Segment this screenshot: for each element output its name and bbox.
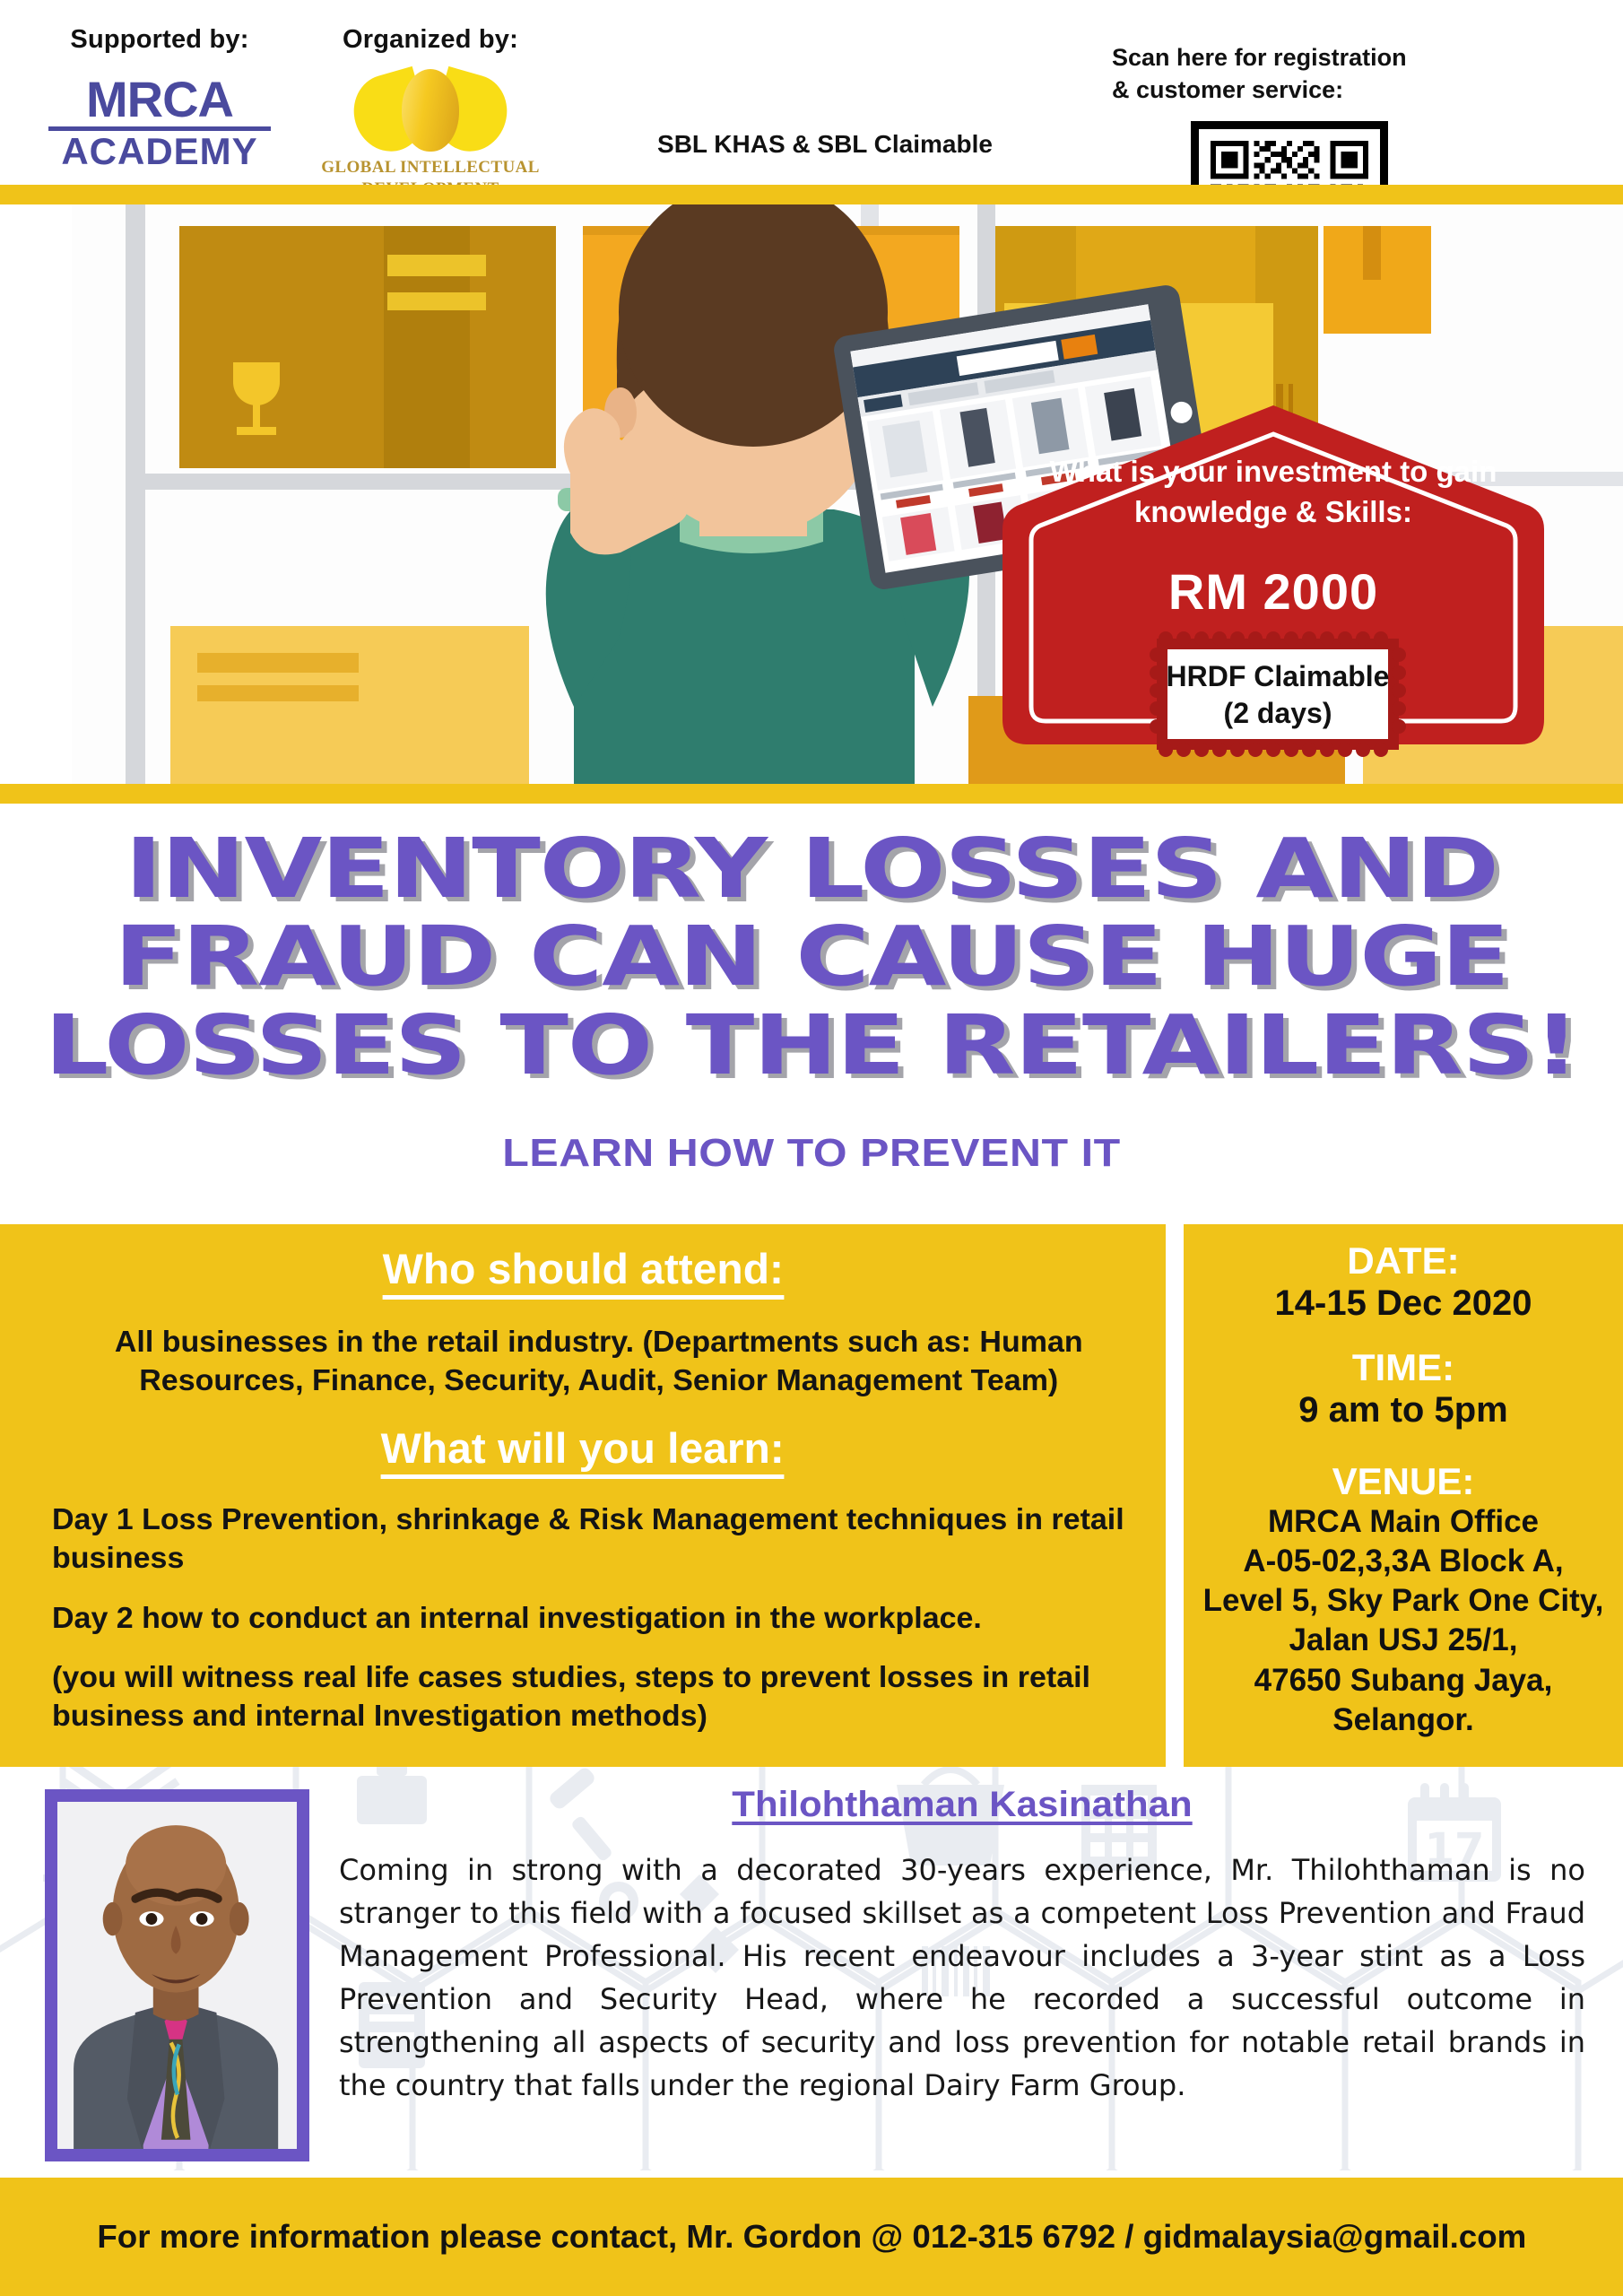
what-will-you-learn-heading-wrap: What will you learn: bbox=[52, 1423, 1114, 1479]
speaker-section: 17 bbox=[0, 1767, 1623, 2170]
venue-label: VENUE: bbox=[1193, 1461, 1614, 1502]
footer-contact-bar: For more information please contact, Mr.… bbox=[0, 2178, 1623, 2296]
panel-course-details: Who should attend: All businesses in the… bbox=[0, 1224, 1166, 1767]
time-value: 9 am to 5pm bbox=[1193, 1388, 1614, 1432]
mrca-academy-logo: MRCA ACADEMY bbox=[43, 74, 276, 170]
learn-note: (you will witness real life cases studie… bbox=[52, 1658, 1146, 1735]
venue-line-6: Selangor. bbox=[1193, 1700, 1614, 1740]
supported-by-block: Supported by: MRCA ACADEMY bbox=[43, 25, 276, 170]
venue-line-1: MRCA Main Office bbox=[1193, 1502, 1614, 1542]
venue-line-3: Level 5, Sky Park One City, bbox=[1193, 1581, 1614, 1621]
learn-day1: Day 1 Loss Prevention, shrinkage & Risk … bbox=[52, 1500, 1146, 1578]
who-should-attend-body: All businesses in the retail industry. (… bbox=[52, 1323, 1146, 1400]
hrdf-claimable-stamp: HRDF Claimable (2 days) bbox=[1150, 631, 1406, 757]
headline-line-3: LOSSES TO THE RETAILERS! bbox=[0, 1002, 1623, 1090]
speaker-name: Thilohthaman Kasinathan bbox=[308, 1785, 1617, 1825]
headline-line-1: INVENTORY LOSSES AND bbox=[0, 825, 1623, 913]
hero-bottom-rule bbox=[0, 784, 1623, 804]
qr-caption-line1: Scan here for registration bbox=[1112, 41, 1488, 74]
sbl-claimable-note: SBL KHAS & SBL Claimable bbox=[628, 130, 1022, 159]
price-question-line2: knowledge & Skills: bbox=[995, 492, 1551, 533]
venue-line-2: A-05-02,3,3A Block A, bbox=[1193, 1542, 1614, 1581]
speaker-portrait-icon bbox=[57, 1802, 297, 2149]
hrdf-claim-line1: HRDF Claimable bbox=[1150, 658, 1406, 695]
footer-contact-text: For more information please contact, Mr.… bbox=[97, 2218, 1526, 2256]
headline-subtitle: LEARN HOW TO PREVENT IT bbox=[0, 1131, 1623, 1176]
qr-caption-line2: & customer service: bbox=[1112, 74, 1488, 106]
speaker-photo-frame bbox=[45, 1789, 309, 2161]
mrca-logo-top-text: MRCA bbox=[43, 74, 276, 125]
date-label: DATE: bbox=[1193, 1240, 1614, 1282]
hero-top-rule bbox=[0, 185, 1623, 204]
time-label: TIME: bbox=[1193, 1347, 1614, 1388]
mrca-logo-bottom-text: ACADEMY bbox=[43, 133, 276, 170]
what-will-you-learn-heading: What will you learn: bbox=[381, 1423, 785, 1479]
hero-illustration: What is your investment to gain knowledg… bbox=[0, 185, 1623, 804]
speaker-bio-text: Coming in strong with a decorated 30-yea… bbox=[339, 1848, 1585, 2107]
gid-egg bbox=[402, 69, 459, 152]
info-panels: Who should attend: All businesses in the… bbox=[0, 1224, 1623, 1767]
hrdf-claim-line2: (2 days) bbox=[1150, 695, 1406, 732]
organized-by-block: Organized by: GLOBAL INTELLECTUAL DEVELO… bbox=[300, 25, 560, 200]
headline-line-2: FRAUD CAN CAUSE HUGE bbox=[0, 913, 1623, 1001]
organized-by-label: Organized by: bbox=[300, 25, 560, 55]
date-value: 14-15 Dec 2020 bbox=[1193, 1282, 1614, 1326]
venue-line-4: Jalan USJ 25/1, bbox=[1193, 1621, 1614, 1660]
learn-day2: Day 2 how to conduct an internal investi… bbox=[52, 1599, 1146, 1638]
gid-tulip-egg-icon bbox=[354, 67, 507, 155]
price-question-line1: What is your investment to gain bbox=[995, 452, 1551, 492]
headline-block: INVENTORY LOSSES AND FRAUD CAN CAUSE HUG… bbox=[0, 825, 1623, 1176]
supported-by-label: Supported by: bbox=[43, 25, 276, 55]
gid-logo-line1: GLOBAL INTELLECTUAL bbox=[300, 157, 560, 178]
price-badge: What is your investment to gain knowledg… bbox=[995, 398, 1551, 784]
venue-line-5: 47650 Subang Jaya, bbox=[1193, 1661, 1614, 1700]
header-bar: Supported by: MRCA ACADEMY Organized by:… bbox=[0, 0, 1623, 185]
who-should-attend-heading: Who should attend: bbox=[382, 1244, 783, 1300]
who-should-attend-heading-wrap: Who should attend: bbox=[52, 1244, 1114, 1300]
price-amount: RM 2000 bbox=[995, 562, 1551, 621]
speaker-bio-block: Thilohthaman Kasinathan Coming in strong… bbox=[339, 1785, 1585, 2107]
panel-event-logistics: DATE: 14-15 Dec 2020 TIME: 9 am to 5pm V… bbox=[1184, 1224, 1623, 1767]
